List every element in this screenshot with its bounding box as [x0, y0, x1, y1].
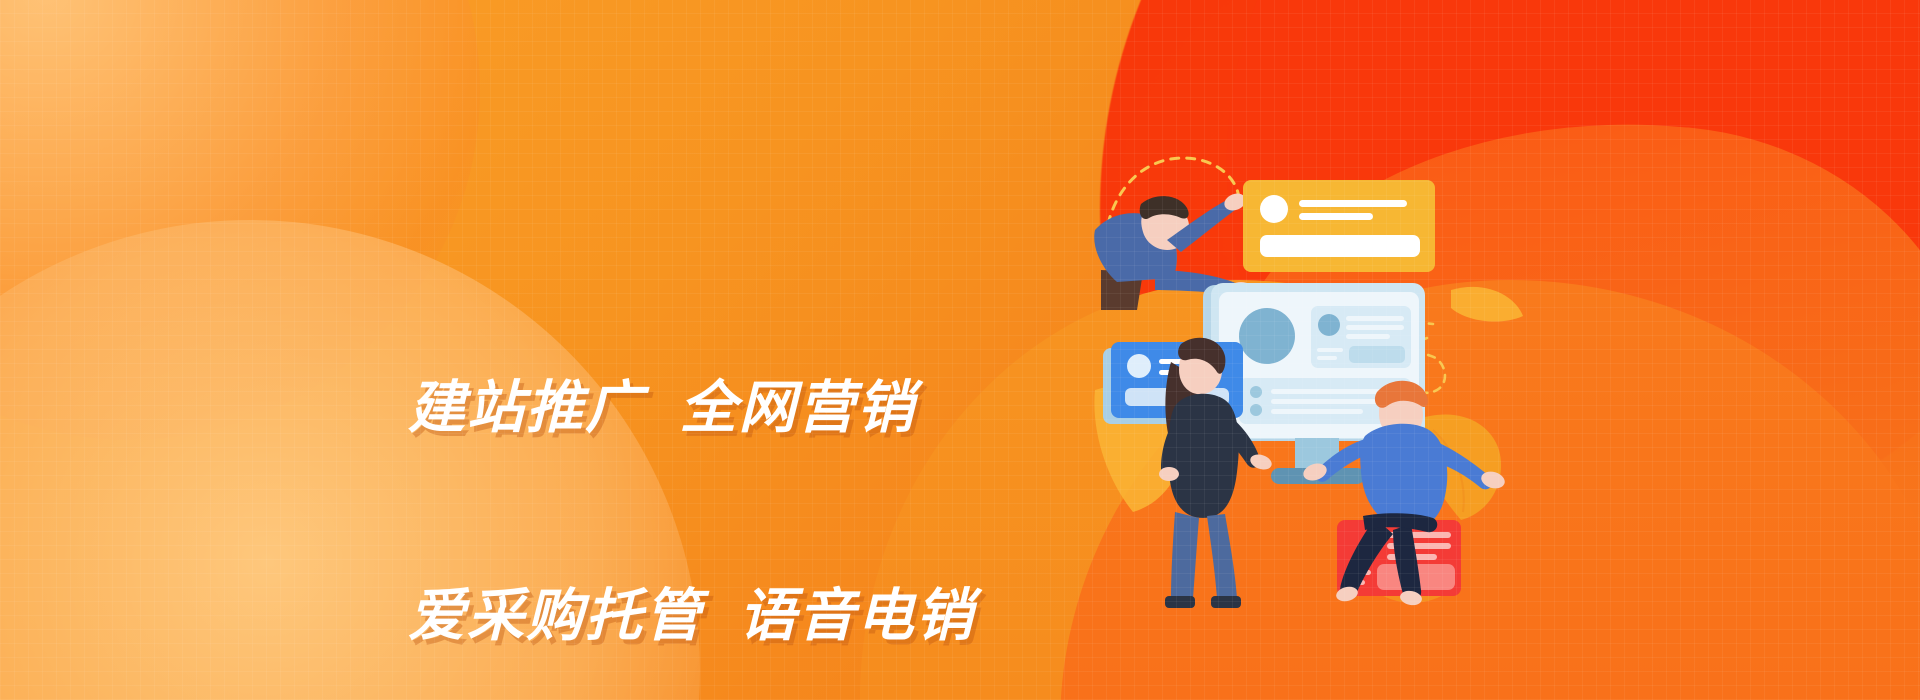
profile-card-yellow[interactable]	[1243, 180, 1435, 272]
headline: 建站推广 全网营销 爱采购托管 语音电销	[408, 243, 1028, 700]
hero-illustration	[1115, 120, 1535, 640]
headline-line-2: 爱采购托管 语音电销	[408, 583, 1028, 649]
promo-banner: 建站推广 全网营销 爱采购托管 语音电销 渊博网络为您提供一站式服务，让您省事省…	[0, 0, 1920, 700]
copy-block: 建站推广 全网营销 爱采购托管 语音电销 渊博网络为您提供一站式服务，让您省事省…	[408, 243, 1028, 700]
monitor-panel-top	[1311, 306, 1411, 368]
headline-line-1: 建站推广 全网营销	[408, 375, 1028, 441]
